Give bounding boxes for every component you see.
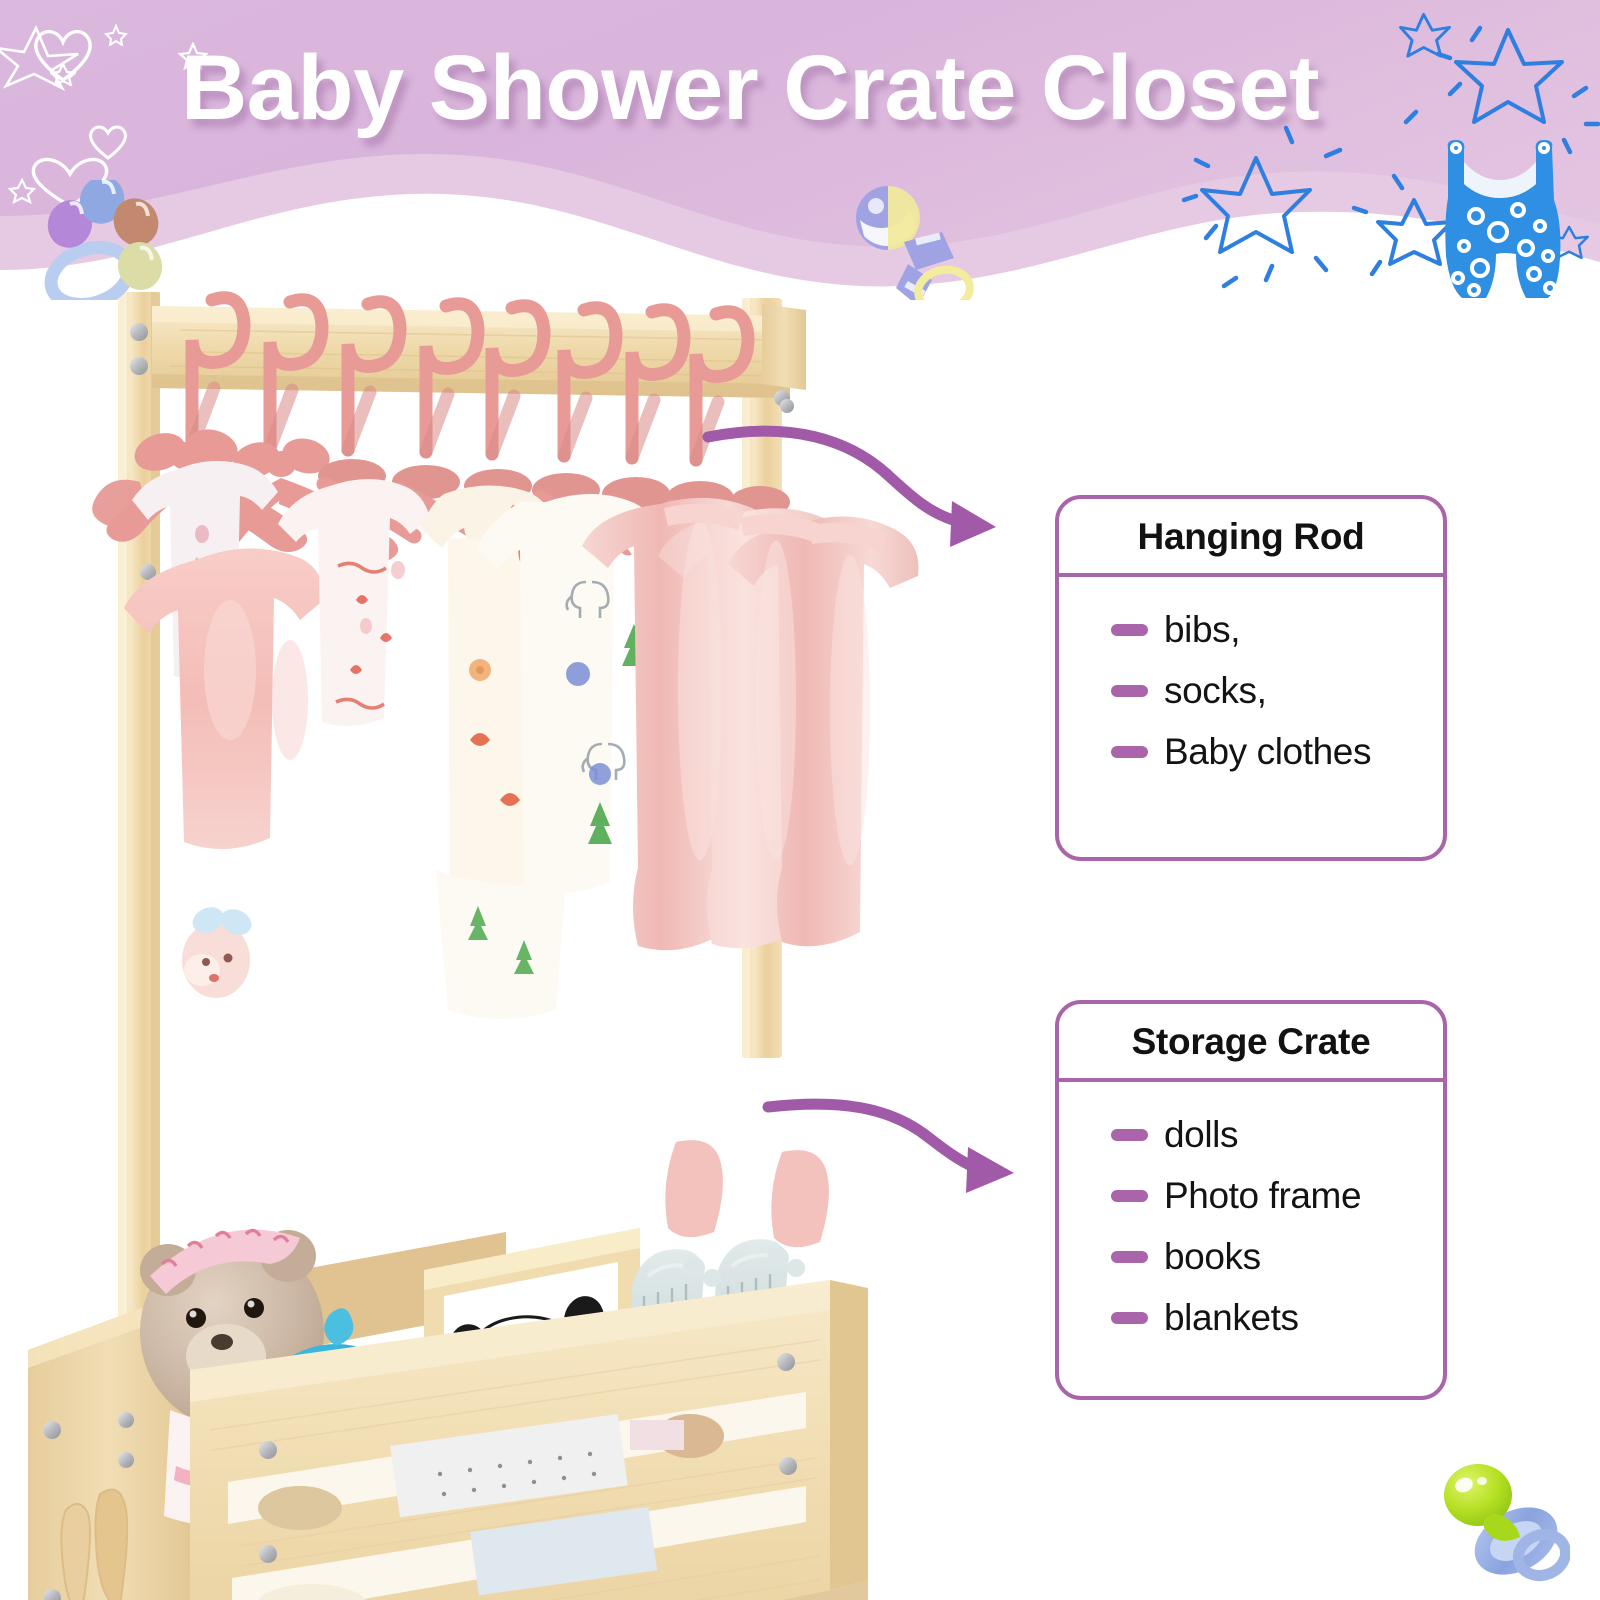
list-item: bibs, [1059, 599, 1443, 660]
list-item: books [1059, 1226, 1443, 1287]
callout-list: dolls Photo frame books blankets [1059, 1082, 1443, 1368]
callout-list: bibs, socks, Baby clothes [1059, 577, 1443, 802]
list-item: blankets [1059, 1287, 1443, 1348]
dash-bullet-icon [1111, 1190, 1148, 1202]
dash-bullet-icon [1111, 1129, 1148, 1141]
arrow-to-storage-crate [760, 1085, 1060, 1215]
header-banner: Baby Shower Crate Closet [0, 0, 1600, 300]
callout-storage-crate: Storage Crate dolls Photo frame books bl… [1055, 1000, 1447, 1400]
page-title: Baby Shower Crate Closet [0, 36, 1500, 141]
star-outline-icon [8, 178, 36, 204]
callout-hanging-rod: Hanging Rod bibs, socks, Baby clothes [1055, 495, 1447, 861]
dash-bullet-icon [1111, 624, 1148, 636]
pacifier-icon [1420, 1455, 1570, 1590]
arrow-to-hanging-rod [700, 405, 1030, 575]
baby-romper-icon [1430, 140, 1580, 300]
beaded-rattle-icon [40, 180, 180, 300]
dash-bullet-icon [1111, 746, 1148, 758]
list-item: Photo frame [1059, 1165, 1443, 1226]
dash-bullet-icon [1111, 1251, 1148, 1263]
callout-title: Hanging Rod [1059, 499, 1443, 577]
callout-title: Storage Crate [1059, 1004, 1443, 1082]
dash-bullet-icon [1111, 1312, 1148, 1324]
list-item: socks, [1059, 660, 1443, 721]
list-item: dolls [1059, 1104, 1443, 1165]
list-item: Baby clothes [1059, 721, 1443, 782]
dash-bullet-icon [1111, 685, 1148, 697]
baby-rattle-icon [846, 180, 976, 300]
